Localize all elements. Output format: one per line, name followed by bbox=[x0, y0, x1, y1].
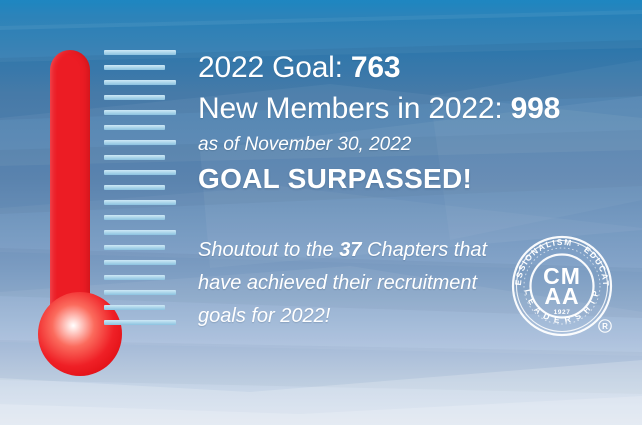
scale-tick bbox=[104, 260, 176, 265]
shoutout-part-1: Shoutout to the bbox=[198, 239, 339, 261]
scale-tick bbox=[104, 80, 176, 85]
scale-tick bbox=[104, 65, 165, 70]
shoutout-text: Shoutout to the 37 Chapters that have ac… bbox=[198, 234, 508, 333]
goal-value: 763 bbox=[351, 51, 400, 84]
logo-established-year: 1927 bbox=[554, 309, 571, 316]
scale-tick bbox=[104, 155, 165, 160]
new-members-label: New Members in 2022: bbox=[198, 92, 502, 125]
goal-line: 2022 Goal: 763 bbox=[198, 48, 598, 88]
scale-tick bbox=[104, 245, 165, 250]
scale-tick bbox=[104, 290, 176, 295]
goal-label: 2022 Goal: bbox=[198, 51, 343, 84]
cmaa-logo: PROFESSIONALISM · EDUCATION · · L E A D … bbox=[506, 230, 618, 342]
thermometer-tube-fill bbox=[50, 50, 90, 318]
scale-tick bbox=[104, 215, 165, 220]
scale-tick bbox=[104, 170, 176, 175]
scale-tick bbox=[104, 320, 176, 325]
as-of-date: as of November 30, 2022 bbox=[198, 130, 598, 160]
membership-thermometer-graphic: 2022 Goal: 763 New Members in 2022: 998 … bbox=[0, 0, 642, 425]
scale-tick bbox=[104, 95, 165, 100]
scale-tick bbox=[104, 50, 176, 55]
scale-tick bbox=[104, 275, 165, 280]
logo-monogram-line2: AA bbox=[544, 283, 579, 309]
scale-tick bbox=[104, 305, 165, 310]
cmaa-seal-icon: PROFESSIONALISM · EDUCATION · · L E A D … bbox=[506, 230, 618, 342]
new-members-value: 998 bbox=[511, 92, 560, 125]
thermometer bbox=[38, 44, 110, 384]
scale-tick bbox=[104, 140, 176, 145]
scale-tick bbox=[104, 125, 165, 130]
scale-tick bbox=[104, 110, 176, 115]
scale-tick bbox=[104, 185, 165, 190]
headline-block: 2022 Goal: 763 New Members in 2022: 998 … bbox=[198, 48, 598, 198]
thermometer-scale bbox=[104, 50, 184, 330]
scale-tick bbox=[104, 230, 176, 235]
new-members-line: New Members in 2022: 998 bbox=[198, 88, 598, 130]
goal-status: GOAL SURPASSED! bbox=[198, 160, 598, 198]
scale-tick bbox=[104, 200, 176, 205]
registered-trademark-icon: R bbox=[602, 322, 608, 331]
shoutout-chapter-count: 37 bbox=[339, 239, 361, 261]
